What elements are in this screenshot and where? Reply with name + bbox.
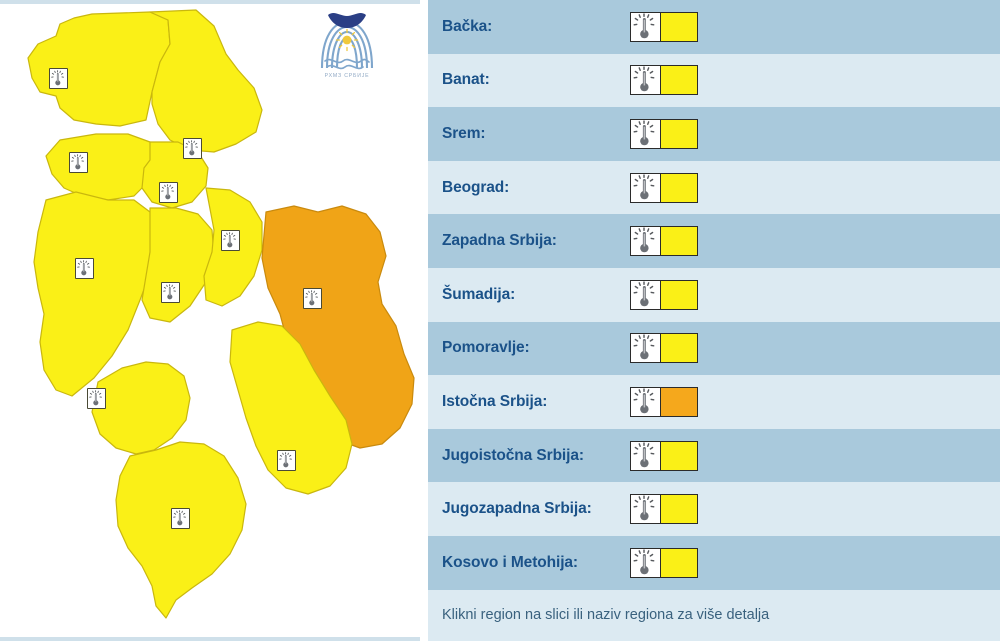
map-marker-backa[interactable] bbox=[49, 68, 68, 89]
region-label-zapadna-srbija: Zapadna Srbija: bbox=[442, 232, 626, 250]
warning-chip-jugoistocna-srbija[interactable] bbox=[630, 441, 698, 471]
high-temperature-thermometer-icon bbox=[631, 281, 661, 309]
region-label-backa: Bačka: bbox=[442, 18, 626, 36]
map-marker-pomoravlje[interactable] bbox=[221, 230, 240, 251]
region-label-banat: Banat: bbox=[442, 71, 626, 89]
region-label-sumadija: Šumadija: bbox=[442, 286, 626, 304]
region-row-pomoravlje[interactable]: Pomoravlje: bbox=[428, 322, 1000, 376]
map-region-sumadija[interactable] bbox=[142, 208, 214, 322]
meteo-alarm-widget: РХМЗ СРБИЈЕ Bačka:Banat:Srem:Beograd:Zap… bbox=[0, 0, 1000, 641]
warning-chip-kosovo-i-metohija[interactable] bbox=[630, 548, 698, 578]
region-label-kosovo-i-metohija: Kosovo i Metohija: bbox=[442, 554, 626, 572]
warning-chip-beograd[interactable] bbox=[630, 173, 698, 203]
region-label-beograd: Beograd: bbox=[442, 179, 626, 197]
high-temperature-thermometer-icon bbox=[631, 66, 661, 94]
warning-level-swatch-yellow bbox=[661, 495, 697, 523]
map-marker-srem[interactable] bbox=[69, 152, 88, 173]
region-row-backa[interactable]: Bačka: bbox=[428, 0, 1000, 54]
serbia-warning-map[interactable]: РХМЗ СРБИЈЕ bbox=[0, 0, 420, 641]
high-temperature-thermometer-icon bbox=[631, 442, 661, 470]
high-temperature-thermometer-icon bbox=[631, 120, 661, 148]
map-marker-zapadna-srbija[interactable] bbox=[75, 258, 94, 279]
warning-level-swatch-yellow bbox=[661, 442, 697, 470]
region-row-srem[interactable]: Srem: bbox=[428, 107, 1000, 161]
high-temperature-thermometer-icon bbox=[631, 495, 661, 523]
map-marker-jugozapadna-srbija[interactable] bbox=[87, 388, 106, 409]
warning-chip-pomoravlje[interactable] bbox=[630, 333, 698, 363]
region-label-srem: Srem: bbox=[442, 125, 626, 143]
warning-chip-jugozapadna-srbija[interactable] bbox=[630, 494, 698, 524]
warning-level-swatch-yellow bbox=[661, 281, 697, 309]
map-marker-beograd[interactable] bbox=[159, 182, 178, 203]
region-row-zapadna-srbija[interactable]: Zapadna Srbija: bbox=[428, 214, 1000, 268]
region-label-istocna-srbija: Istočna Srbija: bbox=[442, 393, 626, 411]
warning-chip-srem[interactable] bbox=[630, 119, 698, 149]
warning-level-swatch-yellow bbox=[661, 334, 697, 362]
region-row-beograd[interactable]: Beograd: bbox=[428, 161, 1000, 215]
map-region-jugozapadna-srbija[interactable] bbox=[92, 362, 190, 454]
list-footer: Klikni region na slici ili naziv regiona… bbox=[428, 590, 1000, 641]
map-marker-istocna-srbija[interactable] bbox=[303, 288, 322, 309]
warning-level-swatch-yellow bbox=[661, 174, 697, 202]
warning-chip-istocna-srbija[interactable] bbox=[630, 387, 698, 417]
warning-level-swatch-orange bbox=[661, 388, 697, 416]
map-marker-jugoistocna-srbija[interactable] bbox=[277, 450, 296, 471]
region-row-banat[interactable]: Banat: bbox=[428, 54, 1000, 108]
map-marker-sumadija[interactable] bbox=[161, 282, 180, 303]
warning-chip-banat[interactable] bbox=[630, 65, 698, 95]
region-row-jugoistocna-srbija[interactable]: Jugoistočna Srbija: bbox=[428, 429, 1000, 483]
region-label-pomoravlje: Pomoravlje: bbox=[442, 339, 626, 357]
map-region-kosovo-i-metohija[interactable] bbox=[116, 442, 246, 618]
region-warning-list: Bačka:Banat:Srem:Beograd:Zapadna Srbija:… bbox=[420, 0, 1000, 641]
region-rows: Bačka:Banat:Srem:Beograd:Zapadna Srbija:… bbox=[428, 0, 1000, 590]
warning-chip-backa[interactable] bbox=[630, 12, 698, 42]
warning-level-swatch-yellow bbox=[661, 227, 697, 255]
high-temperature-thermometer-icon bbox=[631, 174, 661, 202]
warning-chip-sumadija[interactable] bbox=[630, 280, 698, 310]
map-marker-banat[interactable] bbox=[183, 138, 202, 159]
warning-level-swatch-yellow bbox=[661, 549, 697, 577]
warning-level-swatch-yellow bbox=[661, 13, 697, 41]
high-temperature-thermometer-icon bbox=[631, 549, 661, 577]
high-temperature-thermometer-icon bbox=[631, 227, 661, 255]
region-row-kosovo-i-metohija[interactable]: Kosovo i Metohija: bbox=[428, 536, 1000, 590]
high-temperature-thermometer-icon bbox=[631, 388, 661, 416]
warning-level-swatch-yellow bbox=[661, 66, 697, 94]
map-marker-kosovo-i-metohija[interactable] bbox=[171, 508, 190, 529]
map-graphic[interactable] bbox=[0, 0, 420, 641]
region-label-jugoistocna-srbija: Jugoistočna Srbija: bbox=[442, 447, 626, 465]
footer-hint-text: Klikni region na slici ili naziv regiona… bbox=[442, 607, 769, 623]
region-label-jugozapadna-srbija: Jugozapadna Srbija: bbox=[442, 500, 626, 518]
region-row-jugozapadna-srbija[interactable]: Jugozapadna Srbija: bbox=[428, 482, 1000, 536]
warning-chip-zapadna-srbija[interactable] bbox=[630, 226, 698, 256]
region-row-sumadija[interactable]: Šumadija: bbox=[428, 268, 1000, 322]
region-row-istocna-srbija[interactable]: Istočna Srbija: bbox=[428, 375, 1000, 429]
map-region-srem[interactable] bbox=[46, 134, 156, 200]
warning-level-swatch-yellow bbox=[661, 120, 697, 148]
high-temperature-thermometer-icon bbox=[631, 334, 661, 362]
high-temperature-thermometer-icon bbox=[631, 13, 661, 41]
